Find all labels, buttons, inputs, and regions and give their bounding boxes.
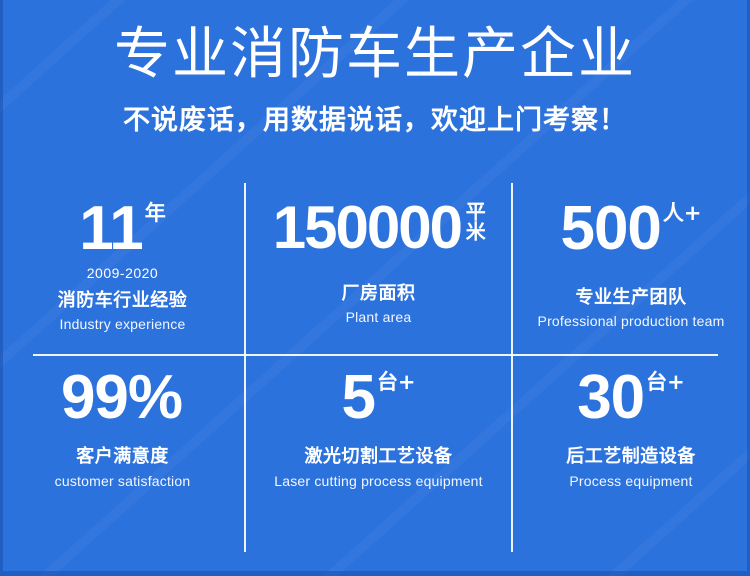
stat-unit: 台+ xyxy=(646,369,685,393)
stat-label-en: customer satisfaction xyxy=(55,473,191,489)
page-title: 专业消防车生产企业 xyxy=(0,26,750,85)
stats-section: 11 年 2009-2020 消防车行业经验 Industry experien… xyxy=(0,178,750,560)
stats-grid: 11 年 2009-2020 消防车行业经验 Industry experien… xyxy=(0,178,750,560)
stat-cell-industry-experience: 11 年 2009-2020 消防车行业经验 Industry experien… xyxy=(0,178,245,355)
stat-label-en: Professional production team xyxy=(538,313,725,329)
stat-unit: 平米 xyxy=(463,200,484,241)
stat-number: 5 xyxy=(341,369,374,426)
stat-cell-customer-satisfaction: 99% 客户满意度 customer satisfaction xyxy=(0,355,245,560)
stat-label-en: Laser cutting process equipment xyxy=(274,473,483,489)
stat-figure: 99% xyxy=(61,369,184,426)
stat-figure: 11 年 xyxy=(79,200,166,257)
stat-number: 11 xyxy=(79,200,143,257)
grid-divider-vertical-left xyxy=(244,183,246,552)
stat-figure: 150000 平米 xyxy=(273,200,484,255)
stat-figure: 5 台+ xyxy=(341,369,415,426)
stat-label-cn: 激光切割工艺设备 xyxy=(305,442,453,468)
stat-cell-laser-cutting-equipment: 5 台+ 激光切割工艺设备 Laser cutting process equi… xyxy=(245,355,512,560)
stat-figure: 500 人+ xyxy=(560,200,701,257)
stat-label-cn: 消防车行业经验 xyxy=(58,286,188,312)
stat-label-cn: 客户满意度 xyxy=(76,442,169,468)
stat-label-en: Industry experience xyxy=(60,316,186,332)
stat-number: 99% xyxy=(61,369,182,426)
stat-unit: 年 xyxy=(145,200,166,224)
stat-number: 150000 xyxy=(273,200,461,255)
grid-divider-horizontal xyxy=(33,354,718,356)
stat-cell-production-team: 500 人+ 专业生产团队 Professional production te… xyxy=(512,178,750,355)
stat-number: 30 xyxy=(577,369,644,426)
stat-cell-process-equipment: 30 台+ 后工艺制造设备 Process equipment xyxy=(512,355,750,560)
stat-label-en: Process equipment xyxy=(569,473,692,489)
promo-banner: 专业消防车生产企业 不说废话，用数据说话，欢迎上门考察！ 11 年 2009-2… xyxy=(0,0,750,576)
banner-header: 专业消防车生产企业 不说废话，用数据说话，欢迎上门考察！ xyxy=(0,0,750,137)
page-subtitle: 不说废话，用数据说话，欢迎上门考察！ xyxy=(0,105,750,137)
stat-label-cn: 厂房面积 xyxy=(342,279,416,305)
stat-label-cn: 后工艺制造设备 xyxy=(566,442,696,468)
stat-unit: 人+ xyxy=(663,200,702,224)
stat-label-en: Plant area xyxy=(346,309,412,325)
stat-cell-plant-area: 150000 平米 厂房面积 Plant area xyxy=(245,178,512,355)
grid-divider-vertical-right xyxy=(511,183,513,552)
stat-year-range: 2009-2020 xyxy=(87,265,158,281)
stat-label-cn: 专业生产团队 xyxy=(576,283,687,309)
stat-figure: 30 台+ xyxy=(577,369,685,426)
stat-number: 500 xyxy=(560,200,660,257)
stat-unit: 台+ xyxy=(377,369,416,393)
